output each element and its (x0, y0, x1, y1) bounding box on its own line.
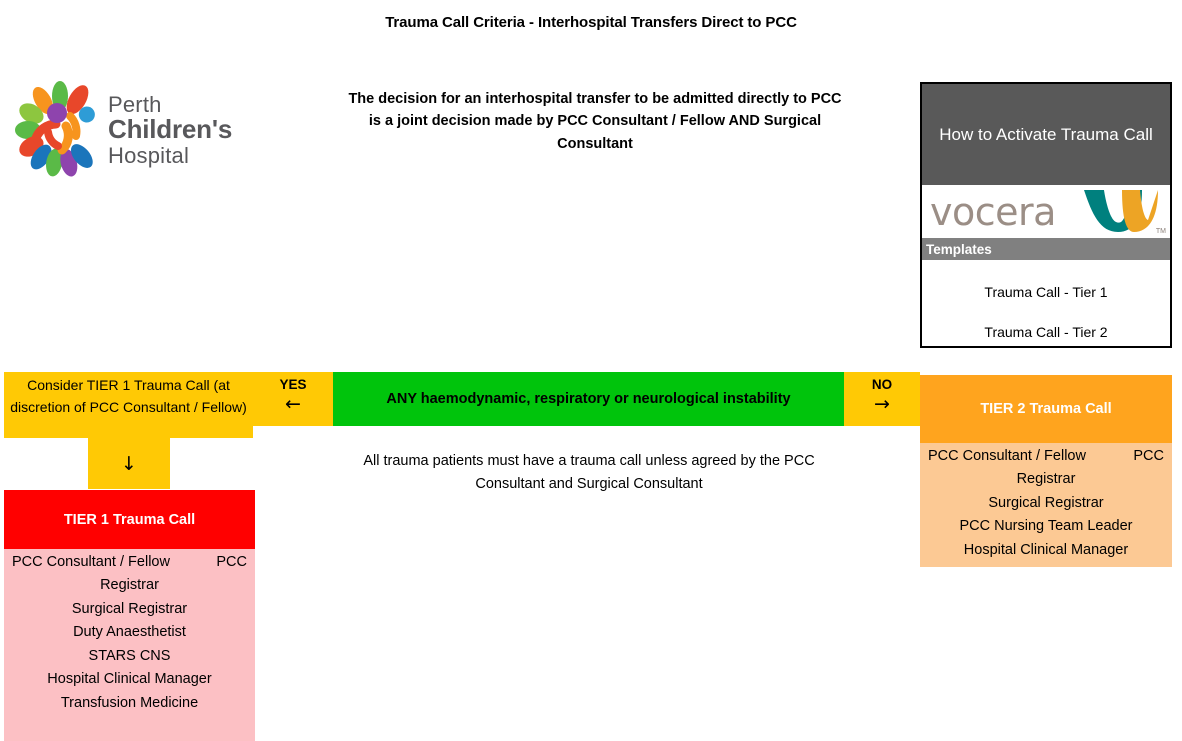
instability-criteria-box: ANY haemodynamic, respiratory or neurolo… (333, 372, 844, 426)
tier2-member-3: PCC Nursing Team Leader (924, 515, 1168, 538)
arrow-down-icon: ↓ (88, 438, 170, 489)
tier2-member-1: Registrar (924, 468, 1168, 491)
tier1-member-6: Transfusion Medicine (8, 692, 251, 715)
tier2-member-2: Surgical Registrar (924, 492, 1168, 515)
tier1-title: TIER 1 Trauma Call (4, 490, 255, 549)
tier2-member-0a: PCC Consultant / Fellow (928, 445, 1086, 468)
no-label: NO (844, 372, 920, 395)
perth-childrens-hospital-mark-icon (8, 78, 112, 182)
tier1-member-row: PCC Consultant / Fellow PCC (8, 551, 251, 574)
tier2-members: PCC Consultant / Fellow PCC Registrar Su… (920, 443, 1172, 566)
vocera-trademark: TM (1156, 228, 1166, 235)
tier2-member-row: PCC Consultant / Fellow PCC (924, 445, 1168, 468)
templates-bar-label: Templates (922, 238, 1170, 260)
tier1-member-0a: PCC Consultant / Fellow (12, 551, 170, 574)
tier2-member-4: Hospital Clinical Manager (924, 539, 1168, 562)
logo-line-hospital: Hospital (108, 144, 258, 167)
yes-branch: YES ← (253, 372, 333, 426)
consider-tier1-box: Consider TIER 1 Trauma Call (at discreti… (4, 372, 253, 438)
template-item-tier2[interactable]: Trauma Call - Tier 2 (922, 312, 1170, 352)
how-to-activate-panel: How to Activate Trauma Call vocera TM Te… (920, 82, 1172, 348)
no-branch: NO → (844, 372, 920, 426)
tier1-member-5: Hospital Clinical Manager (8, 668, 251, 691)
tier1-member-4: STARS CNS (8, 645, 251, 668)
intro-statement: The decision for an interhospital transf… (345, 88, 845, 155)
templates-list: Trauma Call - Tier 1 Trauma Call - Tier … (922, 260, 1170, 346)
arrow-left-icon: ← (253, 395, 333, 414)
logo-line-childrens: Children's (108, 116, 258, 144)
template-item-tier1[interactable]: Trauma Call - Tier 1 (922, 272, 1170, 312)
tier1-member-2: Surgical Registrar (8, 598, 251, 621)
arrow-right-icon: → (844, 395, 920, 414)
tier1-member-1: Registrar (8, 574, 251, 597)
tier2-title: TIER 2 Trauma Call (920, 375, 1172, 443)
tier1-members: PCC Consultant / Fellow PCC Registrar Su… (4, 549, 255, 719)
tier1-member-0b: PCC (216, 551, 247, 574)
vocera-wordmark: vocera (930, 193, 1056, 231)
how-to-activate-header: How to Activate Trauma Call (922, 84, 1170, 185)
logo-line-perth: Perth (108, 93, 258, 116)
tier1-trauma-call-card: TIER 1 Trauma Call PCC Consultant / Fell… (4, 490, 255, 741)
yes-label: YES (253, 372, 333, 395)
hospital-logo: Perth Children's Hospital (8, 78, 258, 186)
vocera-logo: vocera TM (922, 185, 1170, 238)
page-title: Trauma Call Criteria - Interhospital Tra… (0, 14, 1182, 31)
vocera-v-icon (1082, 188, 1160, 234)
tier2-trauma-call-card: TIER 2 Trauma Call PCC Consultant / Fell… (920, 375, 1172, 567)
logo-wordmark: Perth Children's Hospital (108, 93, 258, 167)
tier1-member-3: Duty Anaesthetist (8, 621, 251, 644)
middle-note: All trauma patients must have a trauma c… (335, 450, 843, 496)
tier2-member-0b: PCC (1133, 445, 1164, 468)
